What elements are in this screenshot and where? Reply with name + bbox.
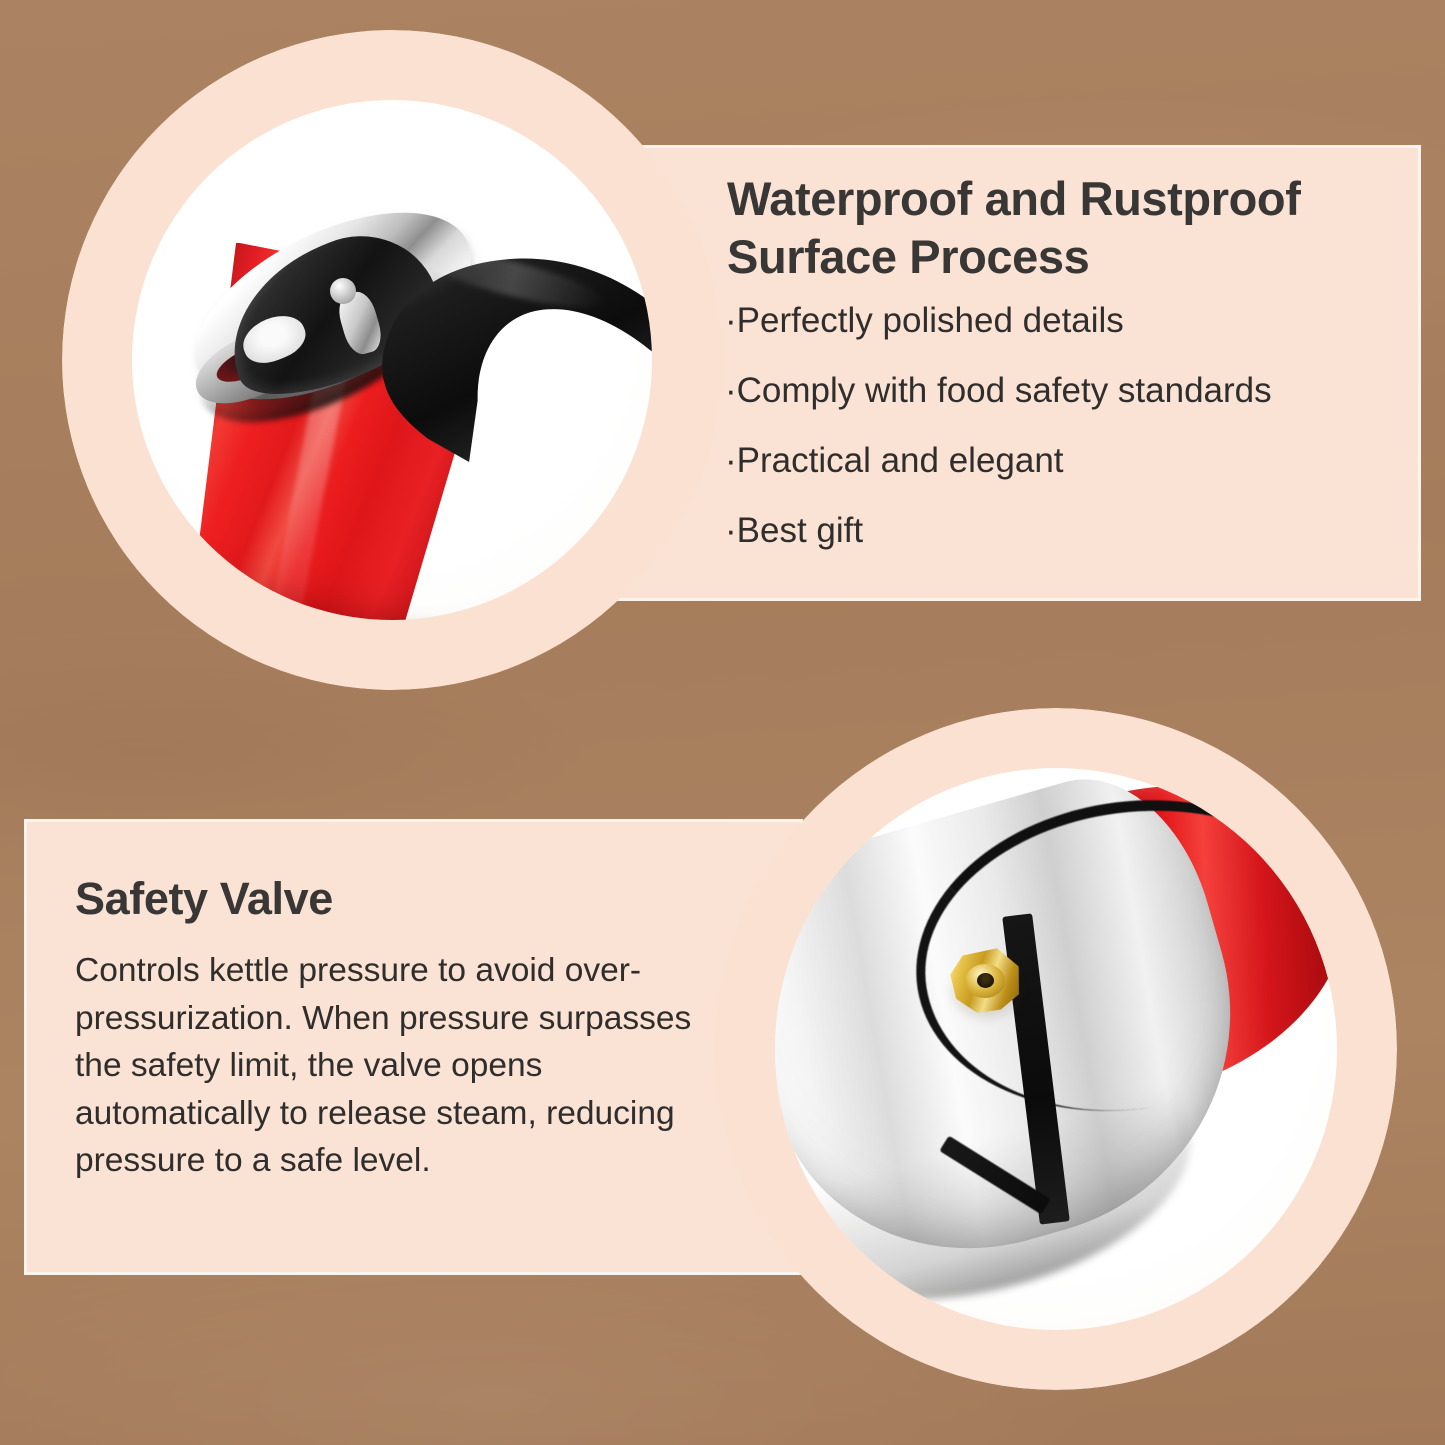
feature-top-bullet-list: ·Perfectly polished details ·Comply with…: [725, 303, 1272, 583]
kettle-illustration: [132, 100, 652, 620]
photo-disc-inner: [132, 100, 652, 620]
kettle-hinge-bolt: [330, 278, 356, 304]
list-item: ·Comply with food safety standards: [725, 373, 1272, 408]
photo-disc-inner: [775, 768, 1337, 1330]
feature-bottom-title: Safety Valve: [75, 872, 333, 926]
product-photo-safety-valve: [715, 708, 1397, 1390]
safety-valve-vent-hole: [977, 973, 994, 988]
list-item: ·Best gift: [725, 513, 1272, 548]
list-item: ·Perfectly polished details: [725, 303, 1272, 338]
feature-top-title: Waterproof and Rustproof Surface Process: [727, 170, 1407, 287]
valve-illustration: [775, 768, 1337, 1330]
product-photo-kettle: [62, 30, 722, 690]
feature-bottom-body: Controls kettle pressure to avoid over-p…: [75, 947, 735, 1185]
feature-panel-bottom-inner: Safety Valve Controls kettle pressure to…: [27, 822, 800, 1272]
feature-panel-bottom: Safety Valve Controls kettle pressure to…: [27, 822, 800, 1272]
list-item: ·Practical and elegant: [725, 443, 1272, 478]
infographic-page: Waterproof and Rustproof Surface Process…: [0, 0, 1445, 1445]
